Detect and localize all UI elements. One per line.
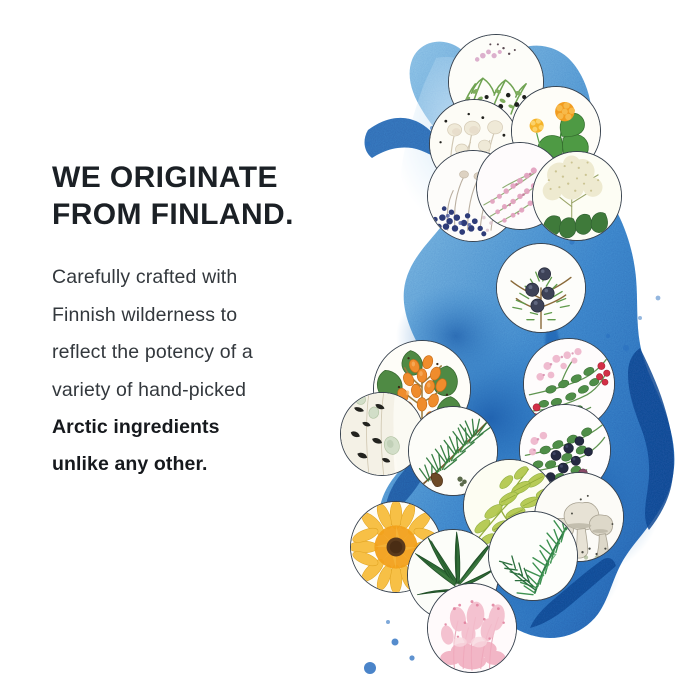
poster-root: WE ORIGINATE FROM FINLAND. Carefully cra…	[0, 0, 679, 679]
body-copy: Carefully crafted with Finnish wildernes…	[52, 259, 352, 484]
body-line-1: Carefully crafted with	[52, 259, 352, 296]
circle-pink-willowherb[interactable]	[427, 583, 517, 673]
body-line-5: Arctic ingredients	[52, 409, 352, 446]
body-line-6: unlike any other.	[52, 446, 352, 483]
body-line-2: Finnish wilderness to	[52, 297, 352, 334]
body-line-3: reflect the potency of a	[52, 334, 352, 371]
circle-juniper-berries[interactable]	[496, 243, 586, 333]
text-panel: WE ORIGINATE FROM FINLAND. Carefully cra…	[52, 160, 352, 484]
page-title: WE ORIGINATE FROM FINLAND.	[52, 160, 352, 233]
circle-spruce-sprig[interactable]	[488, 511, 578, 601]
circle-meadowsweet[interactable]	[532, 151, 622, 241]
body-line-4: variety of hand-picked	[52, 372, 352, 409]
